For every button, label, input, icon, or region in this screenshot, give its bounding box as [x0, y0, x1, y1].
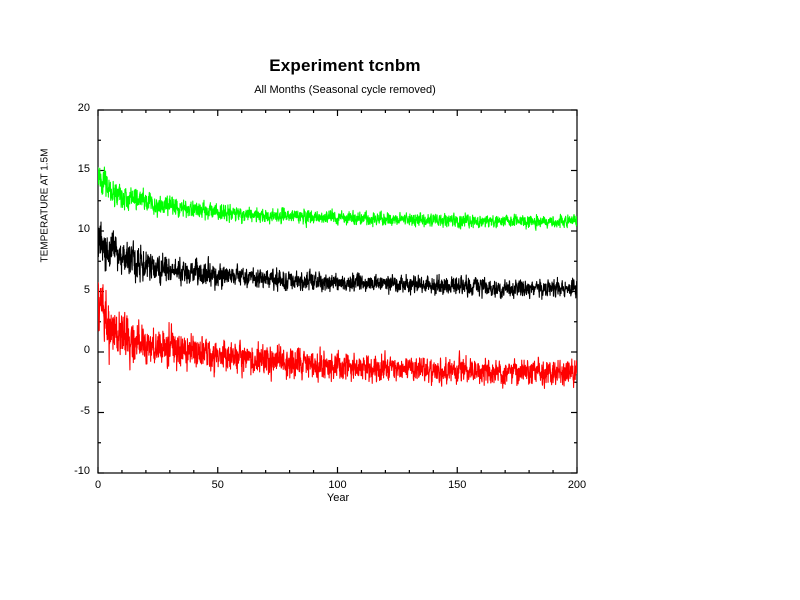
series-line-lower	[98, 283, 577, 389]
series-line-middle	[98, 222, 577, 299]
data-series-group	[98, 167, 577, 388]
plot-area	[0, 0, 800, 600]
axis-frame	[98, 110, 577, 473]
axis-tick-marks	[98, 110, 577, 473]
figure-canvas: Experiment tcnbm All Months (Seasonal cy…	[0, 0, 800, 600]
series-line-upper	[98, 167, 577, 230]
